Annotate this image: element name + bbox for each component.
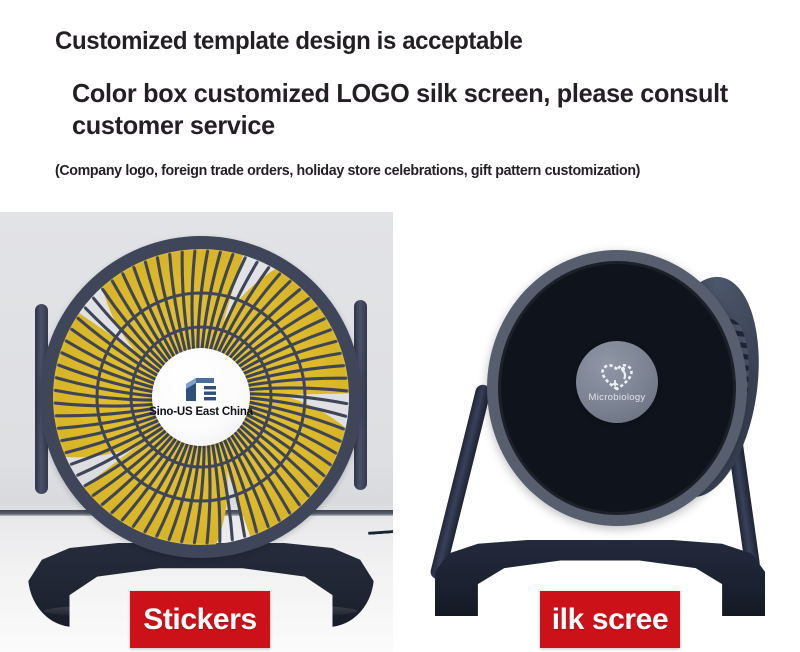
- fan-left-hub-sticker: Sino-US East China: [152, 348, 250, 446]
- badge-silk-screen-label: ilk scree: [552, 603, 669, 637]
- fan-left-grille: Sino-US East China: [40, 236, 362, 558]
- headline-primary: Customized template design is acceptable: [55, 27, 522, 56]
- badge-silk-screen: ilk scree: [540, 591, 680, 648]
- fan-right-grille: Microbiology: [487, 250, 747, 526]
- power-cord: [366, 498, 393, 535]
- fan-right-hub-logo-text: Microbiology: [589, 392, 646, 403]
- badge-stickers-label: Stickers: [143, 603, 257, 637]
- header-text-block: Customized template design is acceptable…: [0, 0, 800, 212]
- photo-divider: [393, 212, 400, 652]
- fan-right-hub-silkscreen: Microbiology: [576, 341, 658, 423]
- fan-left-hub-logo-text: Sino-US East China: [149, 406, 253, 418]
- blue-box-e-logo-icon: [184, 376, 218, 404]
- headline-note: (Company logo, foreign trade orders, hol…: [55, 163, 640, 179]
- heart-microbe-logo-icon: [596, 362, 638, 392]
- fan-right: Microbiology: [425, 232, 780, 632]
- fan-left: Sino-US East China: [22, 228, 382, 638]
- product-photo-row: Sino-US East China: [0, 212, 800, 652]
- headline-secondary: Color box customized LOGO silk screen, p…: [72, 77, 751, 141]
- product-photo-right: Microbiology: [400, 212, 800, 652]
- badge-stickers: Stickers: [130, 591, 270, 648]
- product-photo-left: Sino-US East China: [0, 212, 393, 652]
